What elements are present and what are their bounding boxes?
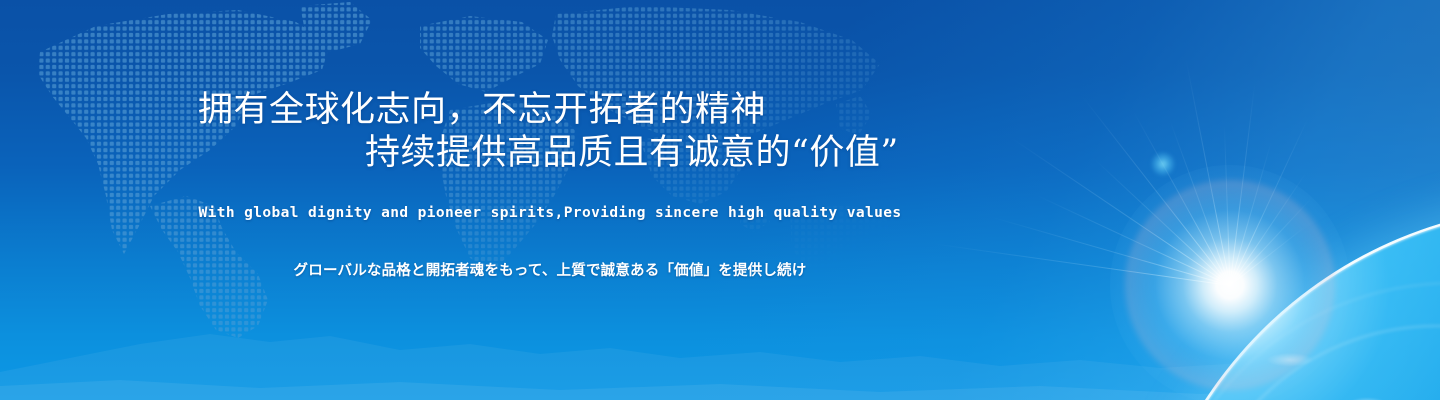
globe-cloud-texture — [1135, 205, 1440, 400]
banner-text-block: 拥有全球化志向，不忘开拓者的精神 持续提供高品质且有诚意的“价值” With g… — [0, 0, 1100, 400]
headline-line-1: 拥有全球化志向，不忘开拓者的精神 — [0, 88, 1100, 133]
background-sheen — [0, 0, 1440, 400]
hero-banner: 拥有全球化志向，不忘开拓者的精神 持续提供高品质且有诚意的“价值” With g… — [0, 0, 1440, 400]
lens-flare-dot-graphic — [1152, 153, 1174, 175]
globe-atmosphere-arc-outer — [1152, 282, 1440, 400]
globe-atmosphere-arc — [1187, 325, 1440, 400]
sun-halo-ring — [1125, 180, 1335, 390]
headline-line-2: 持续提供高品质且有诚意的“价值” — [0, 131, 1100, 176]
sun-core — [1110, 165, 1350, 400]
dotted-world-map-graphic — [0, 0, 960, 340]
subtitle-japanese: グローバルな品格と開拓者魂をもって、上質で誠意ある「価値」を提供し続け — [0, 259, 1100, 280]
subtitle-english: With global dignity and pioneer spirits,… — [0, 205, 1100, 221]
mountain-silhouette-graphic — [0, 310, 1440, 400]
earth-globe-graphic — [1135, 205, 1440, 400]
